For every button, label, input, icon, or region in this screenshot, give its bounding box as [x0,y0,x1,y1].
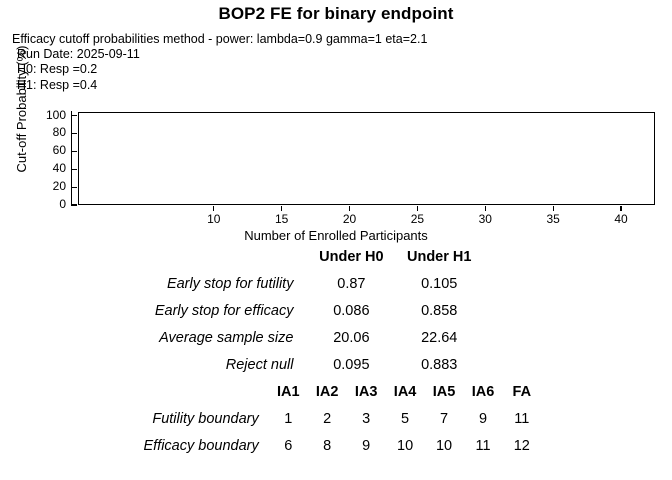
x-tick-label-25: 25 [400,212,434,226]
boundary-value: 6 [269,432,308,459]
x-tick-label-40: 40 [604,212,638,226]
row-label: Futility boundary [0,405,269,432]
boundary-value: 12 [502,432,541,459]
table-header-row: Under H0 Under H1 [0,243,672,270]
x-axis-label: Number of Enrolled Participants [0,228,672,243]
value-under-h0: 0.87 [307,270,395,297]
row-label: Early stop for efficacy [0,297,307,324]
row-label: Average sample size [0,324,307,351]
table-row: Early stop for efficacy0.0860.858 [0,297,672,324]
value-under-h0: 0.095 [307,351,395,378]
x-tick-mark [417,206,418,211]
x-tick-mark [213,206,214,211]
value-under-h1: 22.64 [395,324,483,351]
x-tick-mark [553,206,554,211]
value-under-h1: 0.883 [395,351,483,378]
boundary-value: 10 [386,432,425,459]
spacer [541,432,672,459]
row-label: Efficacy boundary [0,432,269,459]
y-tick-mark [72,204,77,205]
x-tick-mark [485,206,486,211]
x-tick-mark [349,206,350,211]
row-label: Reject null [0,351,307,378]
value-under-h1: 0.858 [395,297,483,324]
y-axis-label-line1: Cut-off Probability (%) [15,39,29,179]
corner-cell [0,378,269,405]
x-tick-label-15: 15 [265,212,299,226]
spacer [483,324,672,351]
x-tick-mark [620,206,621,211]
column-header-fa: FA [502,378,541,405]
boundary-value: 9 [464,405,503,432]
value-under-h0: 20.06 [307,324,395,351]
spacer [483,297,672,324]
y-tick-label-40: 40 [36,161,66,175]
x-tick-label-20: 20 [333,212,367,226]
spacer [541,405,672,432]
column-header-ia3: IA3 [347,378,386,405]
table-row: Early stop for futility0.870.105 [0,270,672,297]
x-tick-label-35: 35 [536,212,570,226]
table-row: Reject null0.0950.883 [0,351,672,378]
column-header-ia5: IA5 [425,378,464,405]
table-row: Efficacy boundary68910101112 [0,432,672,459]
spacer [483,270,672,297]
column-header-ia2: IA2 [308,378,347,405]
subtitle-h1: H1: Resp =0.4 [12,78,427,93]
chart-plot-area [78,112,655,205]
column-header-ia4: IA4 [386,378,425,405]
y-axis-line [71,111,72,206]
table-row: Average sample size20.0622.64 [0,324,672,351]
boundary-value: 10 [425,432,464,459]
boundary-value: 7 [425,405,464,432]
table-row: Futility boundary12357911 [0,405,672,432]
y-tick-label-80: 80 [36,125,66,139]
x-tick-label-10: 10 [197,212,231,226]
subtitle-method: Efficacy cutoff probabilities method - p… [12,32,427,47]
column-header-under-h1: Under H1 [395,243,483,270]
plot-frame [78,112,655,205]
spacer [541,378,672,405]
subtitle-block: Efficacy cutoff probabilities method - p… [12,32,427,93]
subtitle-run-date: Run Date: 2025-09-11 [12,47,427,62]
y-tick-label-60: 60 [36,143,66,157]
boundary-value: 9 [347,432,386,459]
boundary-value: 5 [386,405,425,432]
table-header-row: IA1IA2IA3IA4IA5IA6FA [0,378,672,405]
boundary-value: 3 [347,405,386,432]
y-tick-mark [72,115,77,116]
spacer [483,351,672,378]
operating-characteristics-table: Under H0 Under H1 Early stop for futilit… [0,243,672,378]
value-under-h0: 0.086 [307,297,395,324]
subtitle-h0: H0: Resp =0.2 [12,62,427,77]
y-tick-label-20: 20 [36,179,66,193]
y-tick-mark [72,187,77,188]
boundaries-table: IA1IA2IA3IA4IA5IA6FA Futility boundary12… [0,378,672,459]
column-header-under-h0: Under H0 [307,243,395,270]
column-header-ia1: IA1 [269,378,308,405]
boundary-value: 2 [308,405,347,432]
boundary-value: 1 [269,405,308,432]
x-tick-mark [281,206,282,211]
boundary-value: 11 [464,432,503,459]
value-under-h1: 0.105 [395,270,483,297]
boundary-value: 8 [308,432,347,459]
boundary-value: 11 [502,405,541,432]
y-tick-mark [72,133,77,134]
y-tick-label-100: 100 [36,108,66,122]
y-tick-label-0: 0 [36,197,66,211]
page-title: BOP2 FE for binary endpoint [0,4,672,24]
y-tick-mark [72,151,77,152]
x-tick-label-30: 30 [468,212,502,226]
y-tick-mark [72,169,77,170]
column-header-ia6: IA6 [464,378,503,405]
bop2-design-report: BOP2 FE for binary endpoint Efficacy cut… [0,0,672,480]
row-label: Early stop for futility [0,270,307,297]
